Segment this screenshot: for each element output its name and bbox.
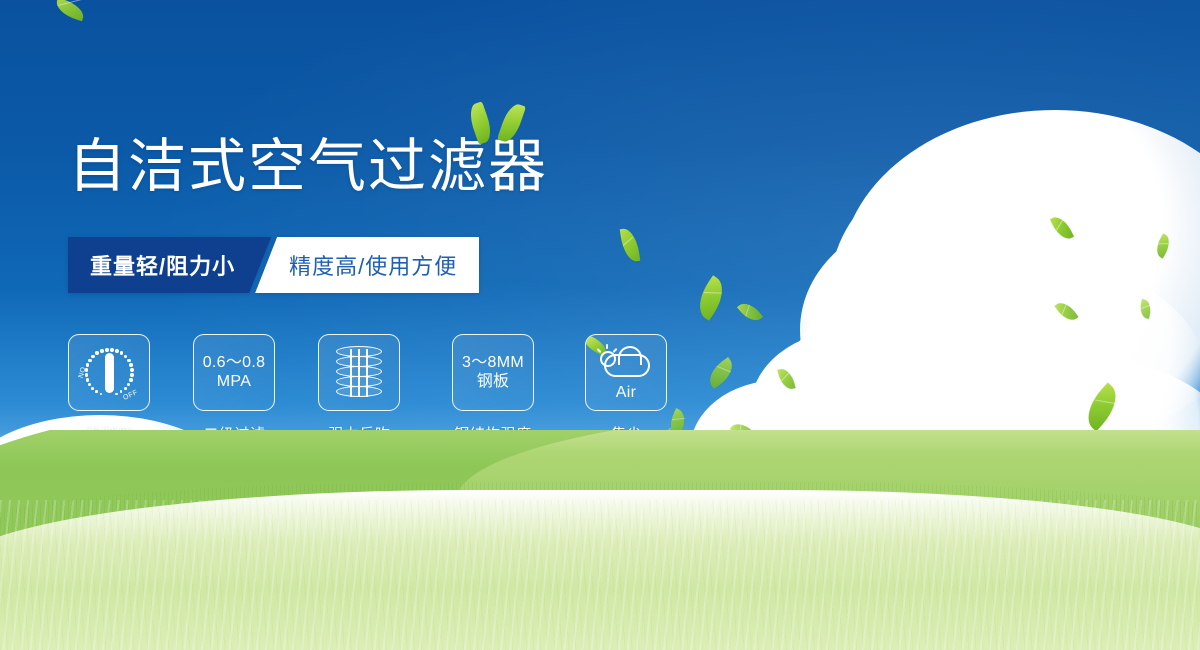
feature-icon-box: 0.6～0.8 MPA xyxy=(193,334,275,411)
dial-tick-dot xyxy=(100,349,104,353)
dial-tick-dot xyxy=(100,393,102,395)
dial-tick-dot xyxy=(124,387,127,390)
feature-item-two-stage-filter[interactable]: 0.6～0.8 MPA 二级过滤 xyxy=(193,334,276,444)
promo-banner: 自洁式空气过滤器 重量轻/阻力小 精度高/使用方便 NO OFF 控制仪 0.6… xyxy=(0,0,1200,650)
feature-icon-box: NO OFF xyxy=(68,334,150,411)
filter-ring xyxy=(336,356,382,367)
dial-tick-dot xyxy=(127,383,130,386)
feature-icon-box xyxy=(318,334,400,411)
dial-tick-dot xyxy=(91,387,94,390)
filter-ring xyxy=(336,346,382,357)
feature-item-backwash[interactable]: 强力反吹 xyxy=(318,334,401,444)
sun-ray xyxy=(597,348,602,353)
dial-tick-dot xyxy=(115,349,119,353)
grass-sheen xyxy=(0,500,1200,650)
dial-tick-dot xyxy=(127,359,131,363)
dial-tick-dot xyxy=(120,390,123,393)
subtitle-left-segment: 重量轻/阻力小 xyxy=(68,237,271,293)
dial-tick-dot xyxy=(124,355,128,359)
dial-tick-dot xyxy=(85,368,89,372)
filter-stack-icon xyxy=(333,344,385,402)
title-block: 自洁式空气过滤器 xyxy=(68,138,548,196)
cloud-air-icon xyxy=(598,343,654,383)
pressure-text-icon: 0.6～0.8 MPA xyxy=(203,354,266,392)
sun-ray xyxy=(606,344,608,349)
air-label: Air xyxy=(616,384,636,403)
dial-tick-dot xyxy=(85,373,89,377)
dial-tick-dot xyxy=(86,363,90,367)
dial-label-off: OFF xyxy=(122,389,139,402)
feature-list: NO OFF 控制仪 0.6～0.8 MPA 二级过滤 xyxy=(68,334,668,444)
feature-item-dust-collection[interactable]: Air 集尘 xyxy=(585,334,668,444)
dial-tick-dot xyxy=(120,351,124,355)
dial-tick-dot xyxy=(95,390,98,393)
gauge-dial-icon: NO OFF xyxy=(78,344,140,402)
sprout-leaf-left xyxy=(466,101,495,144)
dial-tick-dot xyxy=(115,393,117,395)
subtitle-right-segment: 精度高/使用方便 xyxy=(255,237,479,293)
feature-item-steel-strength[interactable]: 3～8MM 钢板 钢结构强度 xyxy=(443,334,543,444)
steel-plate-text-icon: 3～8MM 钢板 xyxy=(462,354,524,392)
filter-ring xyxy=(336,366,382,377)
dial-tick-dot xyxy=(129,378,132,381)
dial-tick-dot xyxy=(95,351,99,355)
dial-tick-dot xyxy=(91,355,95,359)
filter-ring xyxy=(336,386,382,397)
feature-icon-box: 3～8MM 钢板 xyxy=(452,334,534,411)
cloud-body xyxy=(604,354,650,377)
dial-tick-dot xyxy=(88,359,92,363)
sun-ray xyxy=(613,348,618,353)
dial-tick-dot xyxy=(129,363,133,367)
ground-layer xyxy=(0,430,1200,650)
filter-ring xyxy=(336,376,382,387)
feature-icon-box: Air xyxy=(585,334,667,411)
dial-tick-dot xyxy=(130,368,134,372)
feature-item-controller[interactable]: NO OFF 控制仪 xyxy=(68,334,151,444)
dial-tick-dot xyxy=(105,348,109,352)
dial-tick-dot xyxy=(110,348,114,352)
sprout-leaf-right xyxy=(497,101,526,144)
subtitle-bar: 重量轻/阻力小 精度高/使用方便 xyxy=(68,237,479,293)
dial-tick-dot xyxy=(88,383,91,386)
dial-toggle-bar xyxy=(105,353,114,393)
dial-tick-dot xyxy=(86,378,89,381)
dial-tick-dot xyxy=(130,373,134,377)
sprout-leaves-icon xyxy=(466,103,536,149)
